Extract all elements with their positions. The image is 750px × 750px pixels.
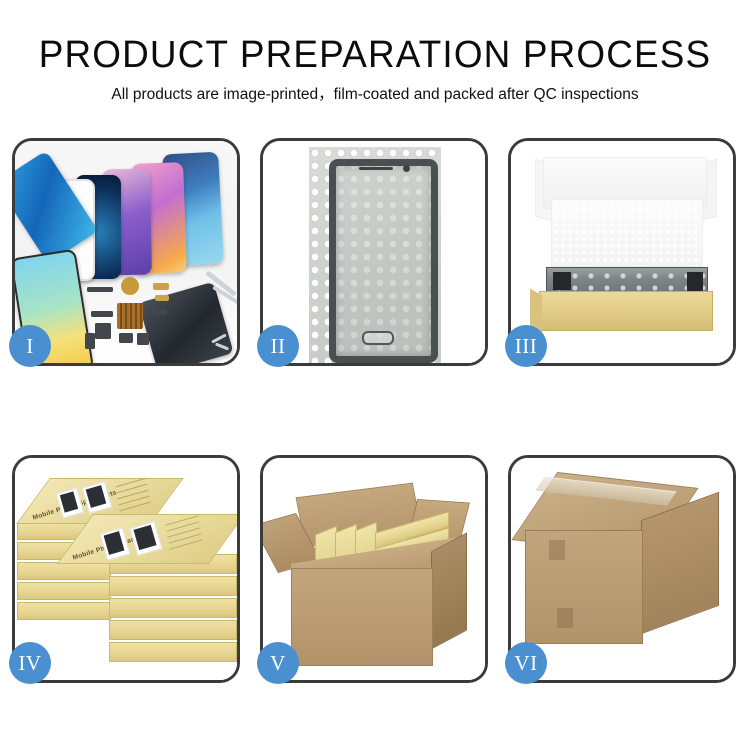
part-cable-left: [91, 311, 113, 317]
step-image-1: [15, 141, 237, 363]
page-subtitle: All products are image-printed，film-coat…: [0, 85, 750, 105]
step-badge-1: I: [9, 325, 51, 367]
phone-parts-collage-image: [15, 141, 237, 363]
screen-in-open-box-image: [511, 141, 733, 363]
product-preparation-process-page: PRODUCT PREPARATION PROCESS All products…: [0, 0, 750, 750]
header: PRODUCT PREPARATION PROCESS All products…: [0, 34, 750, 105]
step-badge-2: II: [257, 325, 299, 367]
sealed-carton-image: [511, 458, 733, 680]
step-image-4: Mobile Phone Spare Parts Mobile Phone Sp…: [15, 458, 237, 680]
stack-box-body-8: [109, 598, 237, 618]
part-flex-cable-2: [155, 295, 169, 301]
open-carton-image: [263, 458, 485, 680]
part-cable-right: [147, 309, 167, 315]
stack-box-body-4: [17, 582, 111, 600]
part-connector-grid: [117, 303, 143, 329]
step-panel-3[interactable]: III: [508, 138, 736, 366]
carton-flap-tab-bottom: [557, 608, 573, 628]
carton-flap-tab-top: [549, 540, 565, 560]
screen-connector-right: [687, 272, 703, 292]
yellow-box-front: [539, 291, 713, 331]
part-flex-cable-1: [153, 283, 169, 290]
stacked-boxes-image: Mobile Phone Spare Parts Mobile Phone Sp…: [15, 458, 237, 680]
stack-box-body-7: [109, 576, 237, 596]
process-steps-grid: I II: [12, 138, 738, 683]
part-button: [137, 333, 149, 345]
step-image-5: [263, 458, 485, 680]
stack-box-body-9: [109, 620, 237, 640]
carton-front-panel: [291, 568, 433, 666]
step-panel-6[interactable]: VI: [508, 455, 736, 683]
step-image-6: [511, 458, 733, 680]
front-camera: [403, 165, 410, 172]
part-module: [95, 323, 111, 339]
step-panel-4[interactable]: Mobile Phone Spare Parts Mobile Phone Sp…: [12, 455, 240, 683]
step-panel-2[interactable]: II: [260, 138, 488, 366]
part-camera: [119, 333, 133, 343]
part-bracket: [87, 287, 113, 292]
carton-front-panel: [525, 530, 643, 644]
step-panel-5[interactable]: V: [260, 455, 488, 683]
step-image-2: [263, 141, 485, 363]
stack-box-body-5: [17, 602, 111, 620]
earpiece-slot: [359, 167, 393, 170]
step-panel-1[interactable]: I: [12, 138, 240, 366]
screen-connector-left: [553, 272, 571, 290]
carton-side-panel: [431, 532, 467, 649]
phone-back-housing: [138, 282, 233, 363]
page-title: PRODUCT PREPARATION PROCESS: [11, 34, 739, 76]
step-badge-5: V: [257, 642, 299, 684]
step-badge-3: III: [505, 325, 547, 367]
foam-padding: [551, 199, 703, 267]
step-badge-4: IV: [9, 642, 51, 684]
part-speaker-coil: [121, 277, 139, 295]
part-sim-tray: [85, 333, 95, 349]
home-button: [362, 331, 394, 345]
step-badge-6: VI: [505, 642, 547, 684]
bubble-wrapped-screen-image: [263, 141, 485, 363]
stack-box-body-3: [17, 562, 111, 580]
stack-box-body-10: [109, 642, 237, 662]
step-image-3: [511, 141, 733, 363]
